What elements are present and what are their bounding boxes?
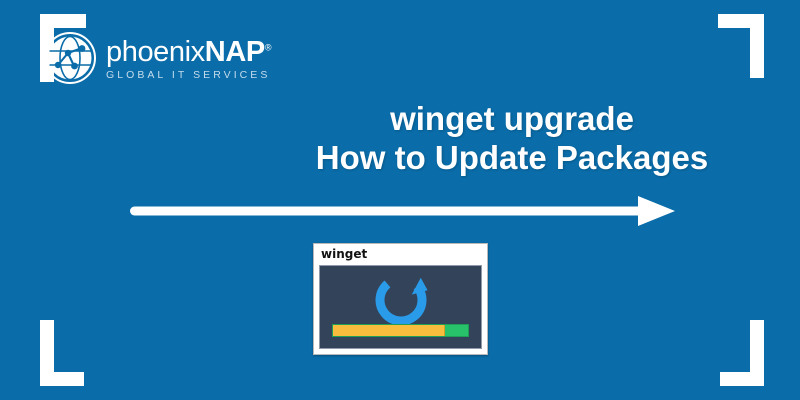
winget-window-body xyxy=(319,265,482,349)
registered-mark: ® xyxy=(265,42,271,52)
page-title-line-2: How to Update Packages xyxy=(282,139,742,178)
winget-window: winget xyxy=(313,243,488,355)
bracket-arm-vertical xyxy=(40,320,54,386)
page-title-line-1: winget upgrade xyxy=(282,100,742,139)
corner-bracket-bottom-right xyxy=(720,320,764,386)
refresh-circular-arrow-icon xyxy=(370,271,432,329)
right-arrow-icon xyxy=(130,193,678,229)
progress-bar-track xyxy=(332,324,469,337)
winget-window-titlebar: winget xyxy=(314,244,487,263)
globe-network-icon xyxy=(44,32,96,84)
corner-bracket-top-right xyxy=(718,14,764,78)
progress-bar-fill xyxy=(333,325,445,336)
logo-name-light: phoenix xyxy=(106,36,205,68)
logo-name-bold: NAP xyxy=(205,36,265,68)
corner-bracket-bottom-left xyxy=(40,320,84,386)
bracket-arm-vertical xyxy=(750,14,764,78)
logo-wordmark: phoenixNAP® GLOBAL IT SERVICES xyxy=(106,36,271,81)
banner: phoenixNAP® GLOBAL IT SERVICES winget up… xyxy=(0,0,800,400)
winget-window-title: winget xyxy=(321,248,367,260)
logo-name: phoenixNAP® xyxy=(106,38,271,67)
page-title: winget upgrade How to Update Packages xyxy=(282,100,742,178)
bracket-arm-vertical xyxy=(750,320,764,386)
phoenixnap-logo: phoenixNAP® GLOBAL IT SERVICES xyxy=(44,30,271,86)
logo-tagline: GLOBAL IT SERVICES xyxy=(106,70,271,81)
